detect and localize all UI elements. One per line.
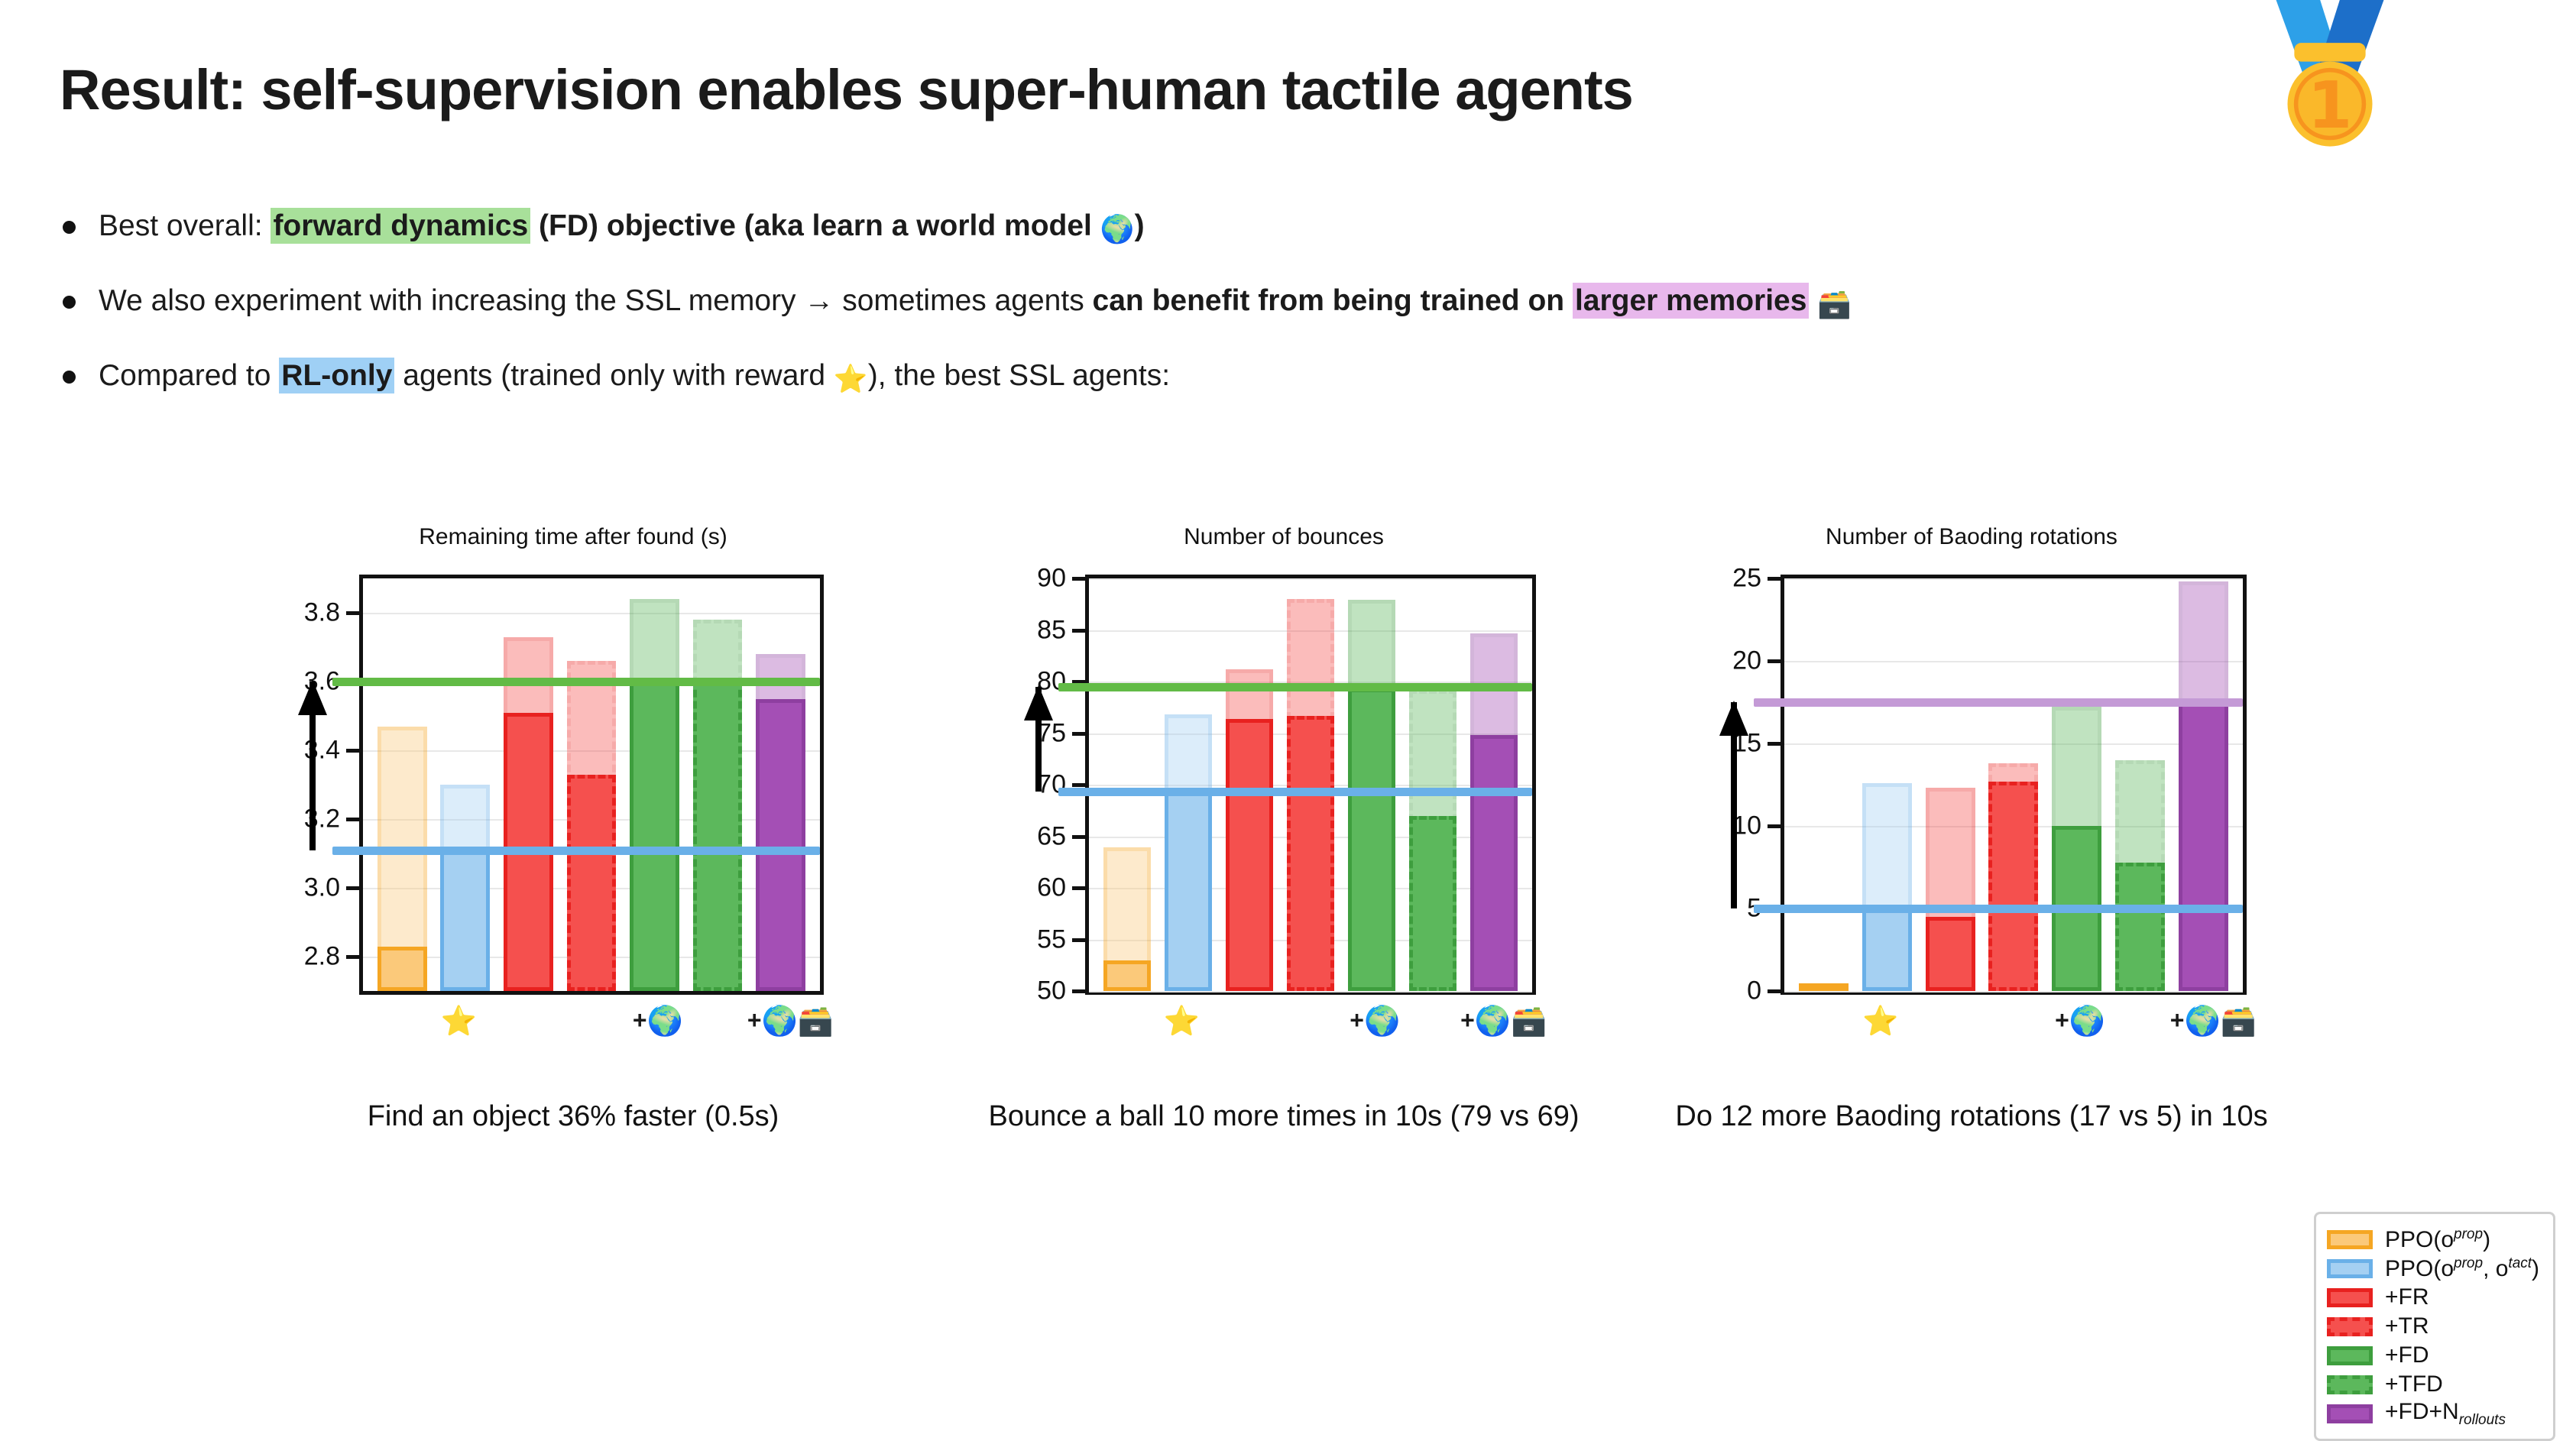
plus-sign: + (1350, 1006, 1364, 1034)
marker-emoji: 🌍🗃️ (1475, 1005, 1547, 1038)
plus-sign: + (633, 1006, 647, 1034)
x-axis-markers: ⭐+🌍+🌍🗃️ (1781, 1007, 2247, 1053)
y-axis-tick-label: 60 (1037, 873, 1066, 903)
bar-value (1226, 719, 1274, 991)
bar-group (1784, 578, 2243, 991)
gridline (1089, 991, 1532, 993)
plus-sign: + (2055, 1006, 2069, 1034)
reference-line-blue-rl-only (1058, 788, 1532, 796)
x-axis-marker-emoji-icon: +🌍 (633, 1007, 683, 1036)
x-axis-marker-emoji-icon: +🌍 (2055, 1007, 2105, 1036)
plus-sign: + (2170, 1006, 2185, 1034)
bar-slot (1103, 578, 1152, 991)
y-axis-tick-label: 3.0 (304, 873, 340, 903)
bar-slot (1470, 578, 1518, 991)
bar-value (630, 682, 679, 991)
bar-value (2179, 702, 2228, 991)
bar-value (1470, 735, 1518, 991)
legend-item[interactable]: +FD (2327, 1341, 2539, 1370)
y-axis-tick-label: 65 (1037, 821, 1066, 851)
bar-slot (2179, 578, 2228, 991)
highlight-rl-only: RL-only (279, 358, 394, 393)
bar-value (2115, 863, 2165, 991)
chart-caption: Find an object 36% faster (0.5s) (191, 1100, 955, 1133)
bullet-dot-icon (63, 371, 76, 384)
legend-swatch (2327, 1375, 2373, 1394)
marker-emoji: 🌍 (2069, 1005, 2105, 1038)
y-axis-tick (1768, 989, 1784, 993)
bar-value (1103, 960, 1152, 992)
legend-label: +TFD (2385, 1371, 2443, 1397)
bar-slot (2115, 578, 2165, 991)
legend-label: +FD+Nrollouts (2385, 1399, 2506, 1429)
bullet-text: Compared to RL-only agents (trained only… (99, 358, 1170, 396)
y-axis-tick-label: 50 (1037, 976, 1066, 1006)
x-axis-marker-emoji-icon: ⭐ (1862, 1007, 1898, 1036)
x-axis-marker-emoji-icon: +🌍🗃️ (1460, 1007, 1547, 1036)
x-axis-marker-emoji-icon: ⭐ (1164, 1007, 1200, 1036)
plus-sign: + (1460, 1006, 1475, 1034)
bar-value (1348, 688, 1396, 991)
marker-emoji: 🌍 (647, 1005, 683, 1038)
bar-value (1409, 816, 1457, 992)
bar-value (756, 699, 805, 992)
plus-sign: + (747, 1006, 762, 1034)
reference-line-blue-rl-only (332, 847, 820, 855)
x-axis-markers: ⭐+🌍+🌍🗃️ (359, 1007, 824, 1053)
x-axis-marker-emoji-icon: ⭐ (441, 1007, 477, 1036)
chart-caption: Do 12 more Baoding rotations (17 vs 5) i… (1589, 1100, 2354, 1133)
legend-swatch (2327, 1259, 2373, 1278)
bold-text: can benefit from being trained on (1093, 284, 1573, 317)
bar-slot (1988, 578, 2038, 991)
marker-emoji: 🌍 (1364, 1005, 1400, 1038)
first-place-medal-icon: 1 (2245, 0, 2415, 165)
legend-swatch (2327, 1404, 2373, 1423)
arrow-head-icon (298, 680, 327, 715)
legend-swatch (2327, 1346, 2373, 1365)
bullet-best-overall: Best overall: forward dynamics (FD) obje… (46, 208, 2415, 246)
legend-item[interactable]: +FR (2327, 1283, 2539, 1312)
x-axis-marker-emoji-icon: +🌍 (1350, 1007, 1400, 1036)
results-figure: Remaining time after found (s)2.83.03.23… (0, 535, 2576, 1166)
bar-value (567, 775, 617, 992)
y-axis-tick-label: 2.8 (304, 942, 340, 972)
inline-emoji-icon: ⭐ (834, 363, 868, 394)
bar-value (1926, 917, 1975, 991)
y-axis-tick (1768, 577, 1784, 581)
y-axis-tick-label: 85 (1037, 615, 1066, 645)
bar-slot (1409, 578, 1457, 991)
bar-slot (693, 578, 743, 991)
bar-group (1089, 578, 1532, 991)
y-axis-tick (1072, 783, 1089, 787)
reference-line-purple-best-ssl (1754, 698, 2243, 707)
y-axis-tick-label: 90 (1037, 564, 1066, 594)
bullet-text: We also experiment with increasing the S… (99, 283, 1852, 321)
legend-item[interactable]: +TFD (2327, 1370, 2539, 1399)
arrow-head-icon (1719, 701, 1748, 736)
bar-slot (1348, 578, 1396, 991)
bar-value (440, 850, 490, 992)
y-axis-tick (1768, 659, 1784, 663)
bar-slot (377, 578, 427, 991)
bold-text: ) (1135, 209, 1145, 242)
bold-text: (FD) objective (aka learn a world model (530, 209, 1100, 242)
y-axis-tick (346, 749, 363, 753)
chart-title: Number of bounces (902, 524, 1666, 550)
bar-group (363, 578, 820, 991)
gridline (1784, 991, 2243, 993)
plot-area: 2.83.03.23.43.63.8 (359, 575, 824, 995)
y-axis-tick (346, 818, 363, 821)
bullet-ssl-memory: We also experiment with increasing the S… (46, 283, 2415, 321)
y-axis-tick-label: 55 (1037, 925, 1066, 954)
bullet-text: Best overall: forward dynamics (FD) obje… (99, 208, 1145, 246)
bar-slot (630, 578, 679, 991)
bar-slot (1226, 578, 1274, 991)
plain-text: Compared to (99, 359, 279, 392)
highlight-larger-memories: larger memories (1573, 283, 1810, 319)
marker-emoji: 🌍🗃️ (762, 1005, 834, 1038)
legend-label: +TR (2385, 1313, 2429, 1339)
marker-emoji: ⭐ (441, 1005, 477, 1038)
y-axis-tick (1072, 989, 1089, 993)
marker-emoji: ⭐ (1164, 1005, 1200, 1038)
bar-value (1799, 983, 1849, 991)
y-axis-tick (346, 611, 363, 615)
legend-label: PPO(oprop, otact) (2385, 1255, 2539, 1282)
legend-item[interactable]: +FD+Nrollouts (2327, 1399, 2539, 1428)
chart-panel-bounces: Number of bounces505560657075808590⭐+🌍+🌍… (902, 535, 1666, 1166)
reference-line-green-best-ssl (1058, 683, 1532, 691)
chart-caption: Bounce a ball 10 more times in 10s (79 v… (902, 1100, 1666, 1133)
marker-emoji: 🌍🗃️ (2184, 1005, 2257, 1038)
bar-value (1287, 716, 1335, 991)
y-axis-tick (1768, 824, 1784, 828)
bar-slot (504, 578, 553, 991)
inline-emoji-icon: 🗃️ (1817, 288, 1852, 319)
bullet-dot-icon (63, 221, 76, 234)
bar-slot (1287, 578, 1335, 991)
bar-slot (756, 578, 805, 991)
y-axis-tick (1072, 938, 1089, 942)
highlight-forward-dynamics: forward dynamics (271, 208, 530, 244)
marker-emoji: ⭐ (1862, 1005, 1898, 1038)
bar-value (1165, 792, 1213, 991)
y-axis-tick (346, 886, 363, 890)
y-axis-tick (1072, 577, 1089, 581)
bullet-compared-rl-only: Compared to RL-only agents (trained only… (46, 358, 2415, 396)
legend-swatch (2327, 1230, 2373, 1249)
plain-text (1809, 284, 1817, 317)
y-axis-tick-label: 3.8 (304, 598, 340, 628)
y-axis-tick (1072, 886, 1089, 890)
page-title: Result: self-supervision enables super-h… (60, 57, 1633, 122)
bar-slot (440, 578, 490, 991)
y-axis-tick-label: 0 (1747, 976, 1761, 1006)
y-axis-tick-label: 20 (1732, 646, 1761, 676)
bullet-dot-icon (63, 296, 76, 309)
bar-value (1862, 908, 1912, 991)
bar-value (693, 678, 743, 992)
legend-item[interactable]: +TR (2327, 1312, 2539, 1341)
chart-legend: PPO(oprop)PPO(oprop, otact)+FR+TR+FD+TFD… (2314, 1212, 2555, 1441)
legend-label: +FR (2385, 1284, 2429, 1310)
bullet-list: Best overall: forward dynamics (FD) obje… (46, 208, 2415, 432)
plain-text: ), the best SSL agents: (868, 359, 1170, 392)
chart-panel-remaining-time: Remaining time after found (s)2.83.03.23… (191, 535, 955, 1166)
y-axis-tick (346, 955, 363, 959)
plain-text: agents (trained only with reward (394, 359, 833, 392)
x-axis-marker-emoji-icon: +🌍🗃️ (2170, 1007, 2257, 1036)
inline-emoji-icon: 🌍 (1100, 213, 1135, 244)
x-axis-marker-emoji-icon: +🌍🗃️ (747, 1007, 834, 1036)
x-axis-markers: ⭐+🌍+🌍🗃️ (1085, 1007, 1536, 1053)
y-axis-tick (1072, 732, 1089, 736)
bar-value (1988, 782, 2038, 991)
y-axis-tick (1072, 629, 1089, 633)
legend-label: +FD (2385, 1342, 2429, 1368)
plain-text: We also experiment with increasing the S… (99, 284, 1093, 317)
bar-slot (2052, 578, 2101, 991)
y-axis-tick-label: 25 (1732, 564, 1761, 594)
y-axis-tick (1072, 835, 1089, 839)
legend-item[interactable]: PPO(oprop, otact) (2327, 1254, 2539, 1283)
plain-text: Best overall: (99, 209, 271, 242)
chart-title: Remaining time after found (s) (191, 524, 955, 550)
arrow-head-icon (1024, 685, 1053, 720)
legend-swatch (2327, 1317, 2373, 1336)
bar-slot (567, 578, 617, 991)
svg-text:1: 1 (2308, 68, 2353, 143)
bar-slot (1165, 578, 1213, 991)
legend-swatch (2327, 1288, 2373, 1307)
chart-panel-baoding: Number of Baoding rotations0510152025⭐+🌍… (1589, 535, 2354, 1166)
y-axis-tick (1768, 742, 1784, 746)
bar-value (377, 947, 427, 992)
plot-area: 0510152025 (1781, 575, 2247, 995)
reference-line-green-best-ssl (332, 678, 820, 686)
chart-title: Number of Baoding rotations (1589, 524, 2354, 550)
bar-slot (1926, 578, 1975, 991)
reference-line-blue-rl-only (1754, 905, 2243, 913)
bar-slot (1862, 578, 1912, 991)
plot-area: 505560657075808590 (1085, 575, 1536, 995)
bar-slot (1799, 578, 1849, 991)
legend-label: PPO(oprop) (2385, 1226, 2490, 1253)
legend-item[interactable]: PPO(oprop) (2327, 1225, 2539, 1254)
